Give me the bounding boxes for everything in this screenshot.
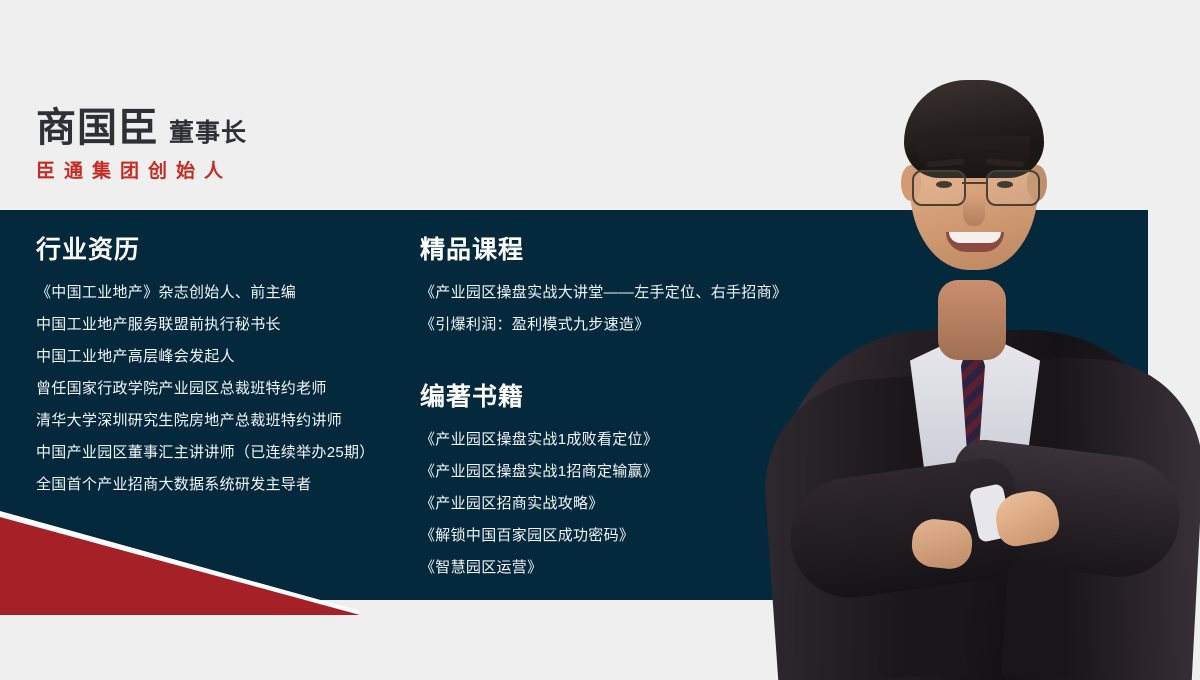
glasses-bridge <box>962 182 986 184</box>
portrait-teeth <box>949 232 1001 243</box>
profile-banner: 商国臣 董事长 臣通集团创始人 <box>0 0 1200 680</box>
red-accent-band <box>0 505 360 615</box>
speaker-identity-header: 商国臣 董事长 臣通集团创始人 <box>36 108 676 181</box>
list-item: 中国工业地产服务联盟前执行秘书长 <box>36 309 416 341</box>
column-courses-and-books: 精品课程 《产业园区操盘实战大讲堂——左手定位、右手招商》 《引爆利润：盈利模式… <box>420 238 840 584</box>
list-item: 中国工业地产高层峰会发起人 <box>36 341 416 373</box>
name-row: 商国臣 董事长 <box>36 108 676 148</box>
section-heading-published-books: 编著书籍 <box>420 385 840 410</box>
glasses-lens-left <box>912 170 966 206</box>
list-item: 《产业园区操盘实战1成败看定位》 <box>420 424 840 456</box>
portrait-nose <box>963 196 985 226</box>
speaker-name: 商国臣 <box>36 108 159 148</box>
column-industry-experience: 行业资历 《中国工业地产》杂志创始人、前主编 中国工业地产服务联盟前执行秘书长 … <box>36 238 416 501</box>
section-heading-industry-experience: 行业资历 <box>36 238 416 263</box>
list-item: 全国首个产业招商大数据系统研发主导者 <box>36 469 416 501</box>
list-item: 清华大学深圳研究生院房地产总裁班特约讲师 <box>36 405 416 437</box>
speaker-job-title: 董事长 <box>169 121 247 148</box>
glasses-lens-right <box>986 170 1040 206</box>
section-heading-featured-courses: 精品课程 <box>420 238 840 263</box>
list-item: 《产业园区操盘实战大讲堂——左手定位、右手招商》 <box>420 277 840 309</box>
list-item: 《中国工业地产》杂志创始人、前主编 <box>36 277 416 309</box>
list-item: 中国产业园区董事汇主讲讲师（已连续举办25期） <box>36 437 416 469</box>
list-item: 《解锁中国百家园区成功密码》 <box>420 520 840 552</box>
featured-courses-list: 《产业园区操盘实战大讲堂——左手定位、右手招商》 《引爆利润：盈利模式九步速造》 <box>420 277 840 341</box>
published-books-list: 《产业园区操盘实战1成败看定位》 《产业园区操盘实战1招商定输赢》 《产业园区招… <box>420 424 840 584</box>
list-item: 《产业园区招商实战攻略》 <box>420 488 840 520</box>
list-item: 《产业园区操盘实战1招商定输赢》 <box>420 456 840 488</box>
list-item: 《智慧园区运营》 <box>420 552 840 584</box>
portrait-neck <box>938 280 1006 360</box>
speaker-company-role: 臣通集团创始人 <box>36 162 676 181</box>
list-item: 《引爆利润：盈利模式九步速造》 <box>420 309 840 341</box>
industry-experience-list: 《中国工业地产》杂志创始人、前主编 中国工业地产服务联盟前执行秘书长 中国工业地… <box>36 277 416 501</box>
list-item: 曾任国家行政学院产业园区总裁班特约老师 <box>36 373 416 405</box>
